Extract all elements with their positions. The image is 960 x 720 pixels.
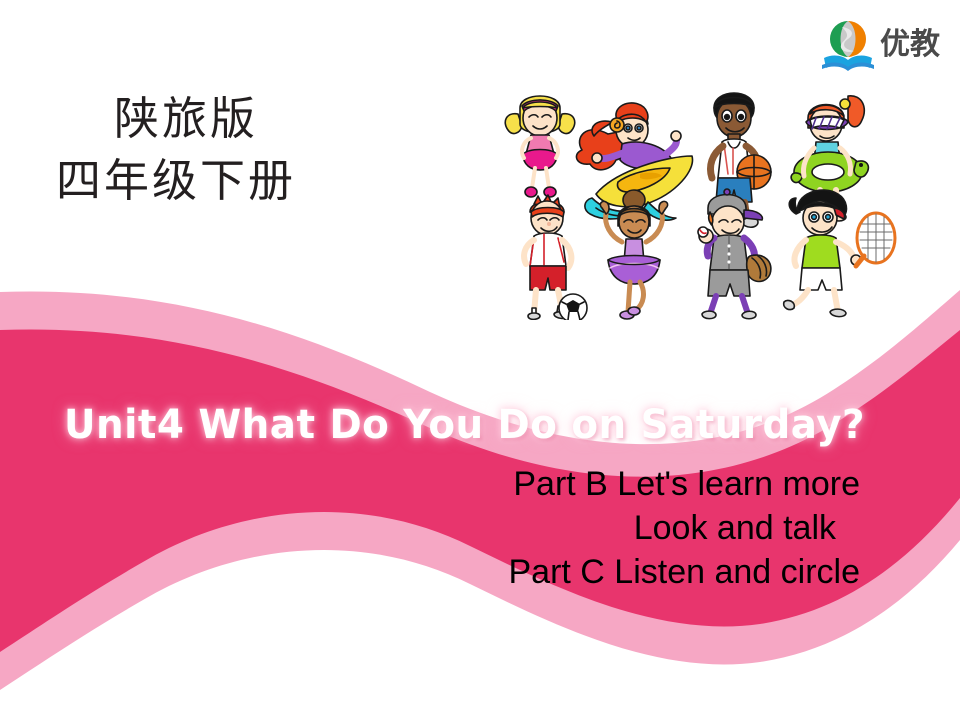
figure-dancing-girl <box>505 96 575 197</box>
lesson-part-line: Part C Listen and circle <box>160 550 860 594</box>
edition-publisher-line: 陕旅版 <box>56 88 296 150</box>
brand-logo-text: 优教 <box>880 30 940 60</box>
page-title: Unit4 What Do You Do on Saturday? <box>64 402 879 448</box>
figure-tennis-boy <box>784 190 895 317</box>
presentation-slide: 优教 陕旅版 四年级下册 <box>0 0 960 720</box>
edition-grade-line: 四年级下册 <box>56 150 296 212</box>
figure-soccer-boy <box>524 195 587 320</box>
lesson-parts-list: Part B Let's learn more Look and talk Pa… <box>160 462 860 594</box>
sports-kids-illustration <box>500 62 900 320</box>
figure-baseball-boy <box>698 189 771 319</box>
lesson-part-line: Part B Let's learn more <box>160 462 860 506</box>
textbook-edition: 陕旅版 四年级下册 <box>56 88 296 212</box>
lesson-part-line: Look and talk <box>160 506 860 550</box>
